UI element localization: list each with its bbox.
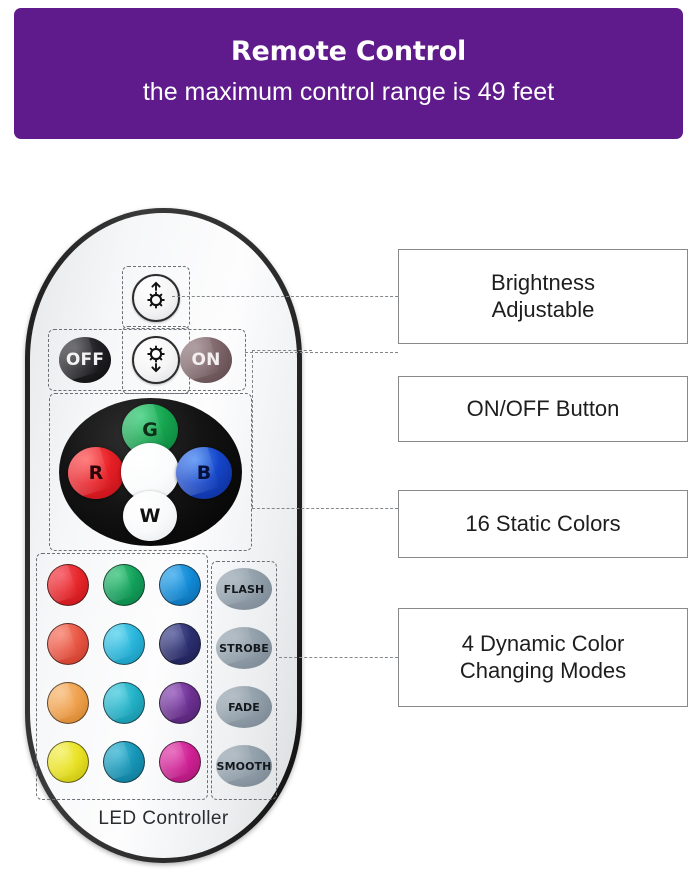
button-gloss: [103, 564, 134, 604]
palette-swatch-magenta[interactable]: [159, 741, 201, 783]
mode-button-flash[interactable]: FLASH: [216, 568, 272, 610]
button-gloss: [47, 682, 78, 722]
callout-static-colors-line1: 16 Static Colors: [465, 511, 620, 536]
palette-swatch-purple[interactable]: [159, 682, 201, 724]
button-gloss: [103, 741, 134, 781]
callout-onoff-button: ON/OFF Button: [398, 376, 688, 442]
button-gloss: [103, 682, 134, 722]
rgb-pad: G R B W: [59, 398, 242, 546]
sun-down-icon: [141, 342, 171, 379]
palette-swatch-green[interactable]: [103, 564, 145, 606]
button-gloss: [159, 741, 190, 781]
rgb-key-white-label: W: [140, 507, 161, 526]
connector-dynamic-modes: [279, 657, 398, 658]
rgb-key-white[interactable]: W: [123, 491, 177, 541]
rgb-key-red-label: R: [89, 464, 104, 483]
callout-dynamic-modes-line1: 4 Dynamic Color: [462, 631, 625, 656]
brightness-up-button[interactable]: [132, 274, 180, 322]
mode-button-smooth-label: SMOOTH: [217, 760, 272, 773]
infographic-page: Remote Control the maximum control range…: [0, 0, 697, 879]
callout-onoff-text: ON/OFF Button: [467, 396, 620, 423]
page-title: Remote Control: [14, 36, 683, 67]
button-gloss: [159, 682, 190, 722]
palette-swatch-yellow[interactable]: [47, 741, 89, 783]
header-banner: Remote Control the maximum control range…: [14, 8, 683, 139]
button-gloss: [47, 564, 78, 604]
rgb-key-blue-label: B: [197, 464, 211, 483]
remote-brand-label: LED Controller: [25, 808, 302, 830]
mode-button-fade-label: FADE: [228, 701, 260, 714]
palette-swatch-red[interactable]: [47, 564, 89, 606]
mode-button-fade[interactable]: FADE: [216, 686, 272, 728]
callout-brightness-line2: Adjustable: [492, 297, 595, 322]
button-gloss: [159, 564, 190, 604]
callout-dynamic-modes-text: 4 Dynamic Color Changing Modes: [460, 631, 626, 685]
button-gloss: [47, 741, 78, 781]
palette-swatch-blue[interactable]: [159, 564, 201, 606]
sun-up-icon: [141, 280, 171, 317]
palette-swatch-cyan[interactable]: [103, 623, 145, 665]
rgb-key-blue[interactable]: B: [176, 447, 232, 499]
on-button-label: ON: [191, 352, 220, 369]
mode-button-smooth[interactable]: SMOOTH: [216, 745, 272, 787]
connector-brightness: [172, 296, 398, 297]
callout-static-colors: 16 Static Colors: [398, 490, 688, 558]
button-gloss: [47, 623, 78, 663]
mode-button-strobe-label: STROBE: [219, 642, 269, 655]
callout-dynamic-modes: 4 Dynamic Color Changing Modes: [398, 608, 688, 707]
connector-onoff: [245, 352, 398, 353]
on-button[interactable]: ON: [180, 337, 232, 383]
rgb-key-green-label: G: [142, 421, 158, 440]
palette-swatch-teal[interactable]: [103, 741, 145, 783]
callout-brightness-adjustable: Brightness Adjustable: [398, 249, 688, 344]
button-gloss: [103, 623, 134, 663]
off-button[interactable]: OFF: [59, 337, 111, 383]
mode-button-strobe[interactable]: STROBE: [216, 627, 272, 669]
palette-swatch-navy[interactable]: [159, 623, 201, 665]
connector-static-colors-vertical: [252, 350, 253, 508]
palette-swatch-teal-cyan[interactable]: [103, 682, 145, 724]
palette-swatch-orange[interactable]: [47, 682, 89, 724]
mode-button-flash-label: FLASH: [224, 583, 265, 596]
callout-dynamic-modes-line2: Changing Modes: [460, 658, 626, 683]
connector-static-colors: [252, 508, 398, 509]
callout-onoff-line1: ON/OFF Button: [467, 396, 620, 421]
callout-brightness-text: Brightness Adjustable: [491, 270, 595, 324]
palette-swatch-red-orange[interactable]: [47, 623, 89, 665]
brightness-down-button[interactable]: [132, 336, 180, 384]
connector-static-colors-upper: [252, 350, 312, 351]
callout-brightness-line1: Brightness: [491, 270, 595, 295]
button-gloss: [159, 623, 190, 663]
callout-static-colors-text: 16 Static Colors: [465, 511, 620, 538]
remote-control: OFF: [25, 208, 302, 863]
off-button-label: OFF: [66, 352, 104, 369]
rgb-key-red[interactable]: R: [68, 447, 124, 499]
page-subtitle: the maximum control range is 49 feet: [14, 78, 683, 107]
